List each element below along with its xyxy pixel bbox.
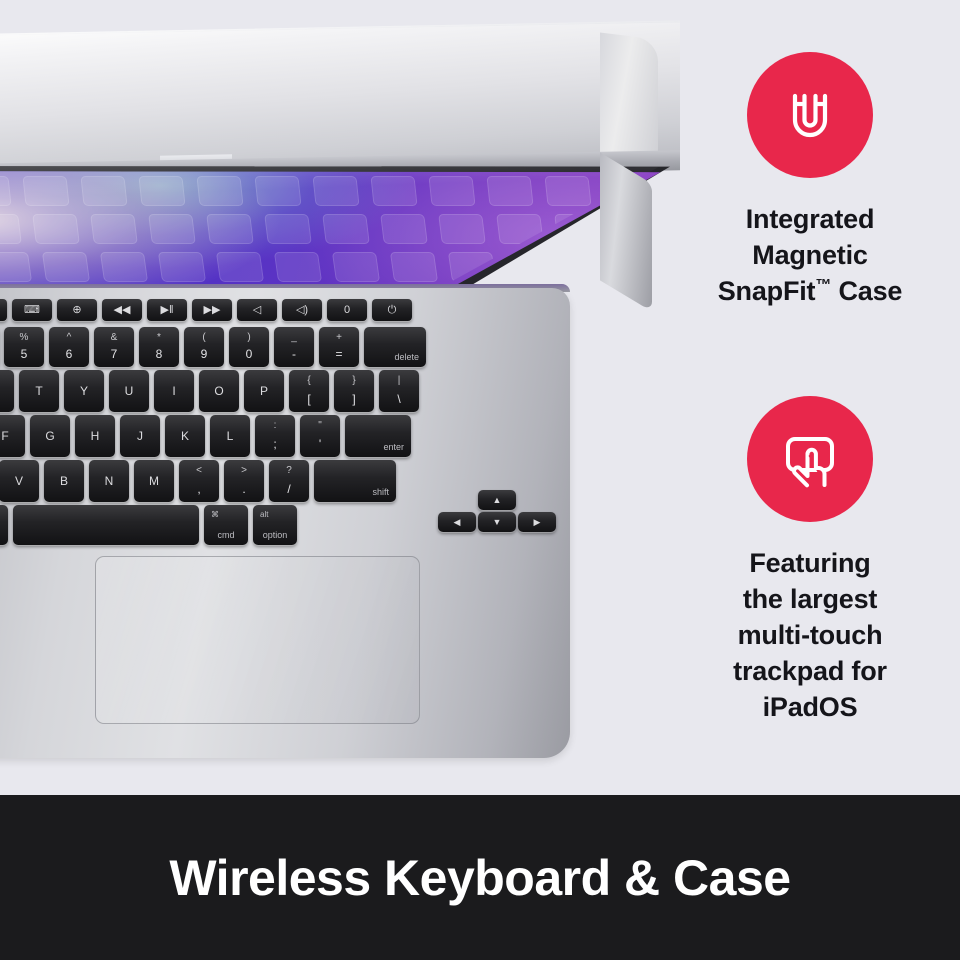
punct-key[interactable]: "' (300, 415, 340, 457)
keyboard-key-glyph: ⌨ (24, 305, 40, 316)
feature-line: Featuring (660, 546, 960, 582)
key-shift-label: ^ (49, 332, 89, 343)
mute-key-glyph: ◁ (253, 305, 261, 316)
enter-key-label: enter (383, 442, 404, 452)
feature-line: the largest (660, 582, 960, 618)
key-shift-label: " (300, 420, 340, 431)
arrow-up-key[interactable]: ▲ (478, 490, 516, 510)
number-key-=[interactable]: += (319, 327, 359, 367)
key-shift-label: : (255, 420, 295, 431)
number-key-7[interactable]: &7 (94, 327, 134, 367)
arrow-down-key[interactable]: ▼ (478, 512, 516, 532)
letter-key-p[interactable]: P (244, 370, 284, 412)
key-label: ] (334, 392, 374, 406)
bottom-banner: Wireless Keyboard & Case (0, 795, 960, 960)
key-shift-label: + (319, 332, 359, 343)
punct-key[interactable]: :; (255, 415, 295, 457)
punct-key[interactable]: ?/ (269, 460, 309, 502)
letter-key-j[interactable]: J (120, 415, 160, 457)
enter-key[interactable]: enter (345, 415, 411, 457)
feature-magnetic-case-text: Integrated Magnetic SnapFit™ Case (660, 202, 960, 310)
shift-key-right[interactable]: shift (314, 460, 396, 502)
feature-trackpad-text: Featuring the largest multi-touch trackp… (660, 546, 960, 726)
magnet-icon (775, 80, 845, 150)
product-marketing-image: 🔒☀✹☀⌨⊕◀◀▶‖▶▶◁◁)0⏻!1@2€#3£$4%5^6&7*8(9)0_… (0, 0, 960, 960)
key-label: 6 (49, 347, 89, 361)
rewind-key-glyph: ◀◀ (114, 305, 131, 316)
key-shift-label: | (379, 375, 419, 386)
letter-key-v[interactable]: V (0, 460, 39, 502)
key-label: 0 (229, 347, 269, 361)
key-label: ; (255, 437, 295, 451)
key-label: , (179, 482, 219, 496)
feature-magnetic-case: Integrated Magnetic SnapFit™ Case (660, 52, 960, 310)
shift-key-label: shift (372, 487, 389, 497)
spotlight-key[interactable]: ⊕ (57, 299, 97, 321)
fast-forward-key[interactable]: ▶▶ (192, 299, 232, 321)
rewind-key[interactable]: ◀◀ (102, 299, 142, 321)
command-key-right[interactable]: ⌘cmd (204, 505, 248, 545)
key-shift-label: } (334, 375, 374, 386)
feature-trackpad: Featuring the largest multi-touch trackp… (660, 396, 960, 726)
spotlight-key-glyph: ⊕ (72, 305, 81, 316)
brightness-up-key[interactable]: ☀ (0, 299, 7, 321)
product-photo: 🔒☀✹☀⌨⊕◀◀▶‖▶▶◁◁)0⏻!1@2€#3£$4%5^6&7*8(9)0_… (0, 0, 680, 795)
key-shift-label: % (4, 332, 44, 343)
mute-key[interactable]: ◁ (237, 299, 277, 321)
play-pause-key[interactable]: ▶‖ (147, 299, 187, 321)
trackpad-touch-icon-badge (747, 396, 873, 522)
arrow-right-key[interactable]: ▶ (518, 512, 556, 532)
power-key-glyph: ⏻ (388, 305, 397, 316)
volume-down-key[interactable]: ◁) (282, 299, 322, 321)
banner-title: Wireless Keyboard & Case (169, 849, 790, 907)
letter-key-l[interactable]: L (210, 415, 250, 457)
letter-key-o[interactable]: O (199, 370, 239, 412)
bracket-key-][interactable]: }] (334, 370, 374, 412)
number-key-5[interactable]: %5 (4, 327, 44, 367)
key-shift-label: ? (269, 465, 309, 476)
magnet-icon-badge (747, 52, 873, 178)
punct-key[interactable]: >. (224, 460, 264, 502)
bracket-key-[[interactable]: {[ (289, 370, 329, 412)
keyboard-keys: 🔒☀✹☀⌨⊕◀◀▶‖▶▶◁◁)0⏻!1@2€#3£$4%5^6&7*8(9)0_… (0, 0, 680, 560)
delete-key[interactable]: delete (364, 327, 426, 367)
key-label: = (319, 347, 359, 361)
letter-key-h[interactable]: H (75, 415, 115, 457)
trackpad[interactable] (95, 556, 420, 724)
key-label: 8 (139, 347, 179, 361)
trackpad-touch-icon (775, 424, 845, 494)
power-key[interactable]: ⏻ (372, 299, 412, 321)
feature-line: Integrated (660, 202, 960, 238)
letter-key-r[interactable]: R (0, 370, 14, 412)
letter-key-i[interactable]: I (154, 370, 194, 412)
key-label: [ (289, 392, 329, 406)
space-key[interactable] (13, 505, 199, 545)
letter-key-n[interactable]: N (89, 460, 129, 502)
letter-key-t[interactable]: T (19, 370, 59, 412)
key-label: - (274, 347, 314, 361)
number-key-6[interactable]: ^6 (49, 327, 89, 367)
option-key-right[interactable]: altoption (253, 505, 297, 545)
keyboard-key[interactable]: ⌨ (12, 299, 52, 321)
key-shift-label: ) (229, 332, 269, 343)
feature-line: trackpad for (660, 654, 960, 690)
key-label: 5 (4, 347, 44, 361)
key-shift-label: > (224, 465, 264, 476)
volume-up-key-glyph: 0 (344, 305, 350, 316)
letter-key-m[interactable]: M (134, 460, 174, 502)
key-label: option (253, 530, 297, 540)
letter-key-g[interactable]: G (30, 415, 70, 457)
key-label: . (224, 482, 264, 496)
key-shift-label: ( (184, 332, 224, 343)
number-key-9[interactable]: (9 (184, 327, 224, 367)
punct-key[interactable]: <, (179, 460, 219, 502)
key-label: 7 (94, 347, 134, 361)
key-label: cmd (204, 530, 248, 540)
feature-line: iPadOS (660, 690, 960, 726)
feature-line: Magnetic (660, 238, 960, 274)
volume-down-key-glyph: ◁) (296, 305, 308, 316)
delete-key-label: delete (394, 352, 419, 362)
number-key-8[interactable]: *8 (139, 327, 179, 367)
volume-up-key[interactable]: 0 (327, 299, 367, 321)
key-label: \ (379, 392, 419, 406)
letter-key-k[interactable]: K (165, 415, 205, 457)
bracket-key-\[interactable]: |\ (379, 370, 419, 412)
fast-forward-key-glyph: ▶▶ (204, 305, 221, 316)
feature-list: Integrated Magnetic SnapFit™ Case Featur… (660, 0, 960, 795)
number-key--[interactable]: _- (274, 327, 314, 367)
letter-key-u[interactable]: U (109, 370, 149, 412)
key-alt-label: alt (260, 510, 268, 519)
number-key-0[interactable]: )0 (229, 327, 269, 367)
play-pause-key-glyph: ▶‖ (160, 305, 173, 316)
key-shift-label: < (179, 465, 219, 476)
feature-line: SnapFit™ Case (660, 274, 960, 310)
key-label: 9 (184, 347, 224, 361)
letter-key-y[interactable]: Y (64, 370, 104, 412)
command-key-left[interactable]: ⌘cmd (0, 505, 8, 545)
letter-key-b[interactable]: B (44, 460, 84, 502)
key-label: cmd (0, 530, 8, 540)
key-shift-label: _ (274, 332, 314, 343)
key-label: / (269, 482, 309, 496)
key-label: ' (300, 437, 340, 451)
feature-line: multi-touch (660, 618, 960, 654)
key-shift-label: * (139, 332, 179, 343)
key-shift-label: { (289, 375, 329, 386)
key-alt-label: ⌘ (211, 510, 219, 519)
arrow-left-key[interactable]: ◀ (438, 512, 476, 532)
letter-key-f[interactable]: F (0, 415, 25, 457)
key-shift-label: & (94, 332, 134, 343)
